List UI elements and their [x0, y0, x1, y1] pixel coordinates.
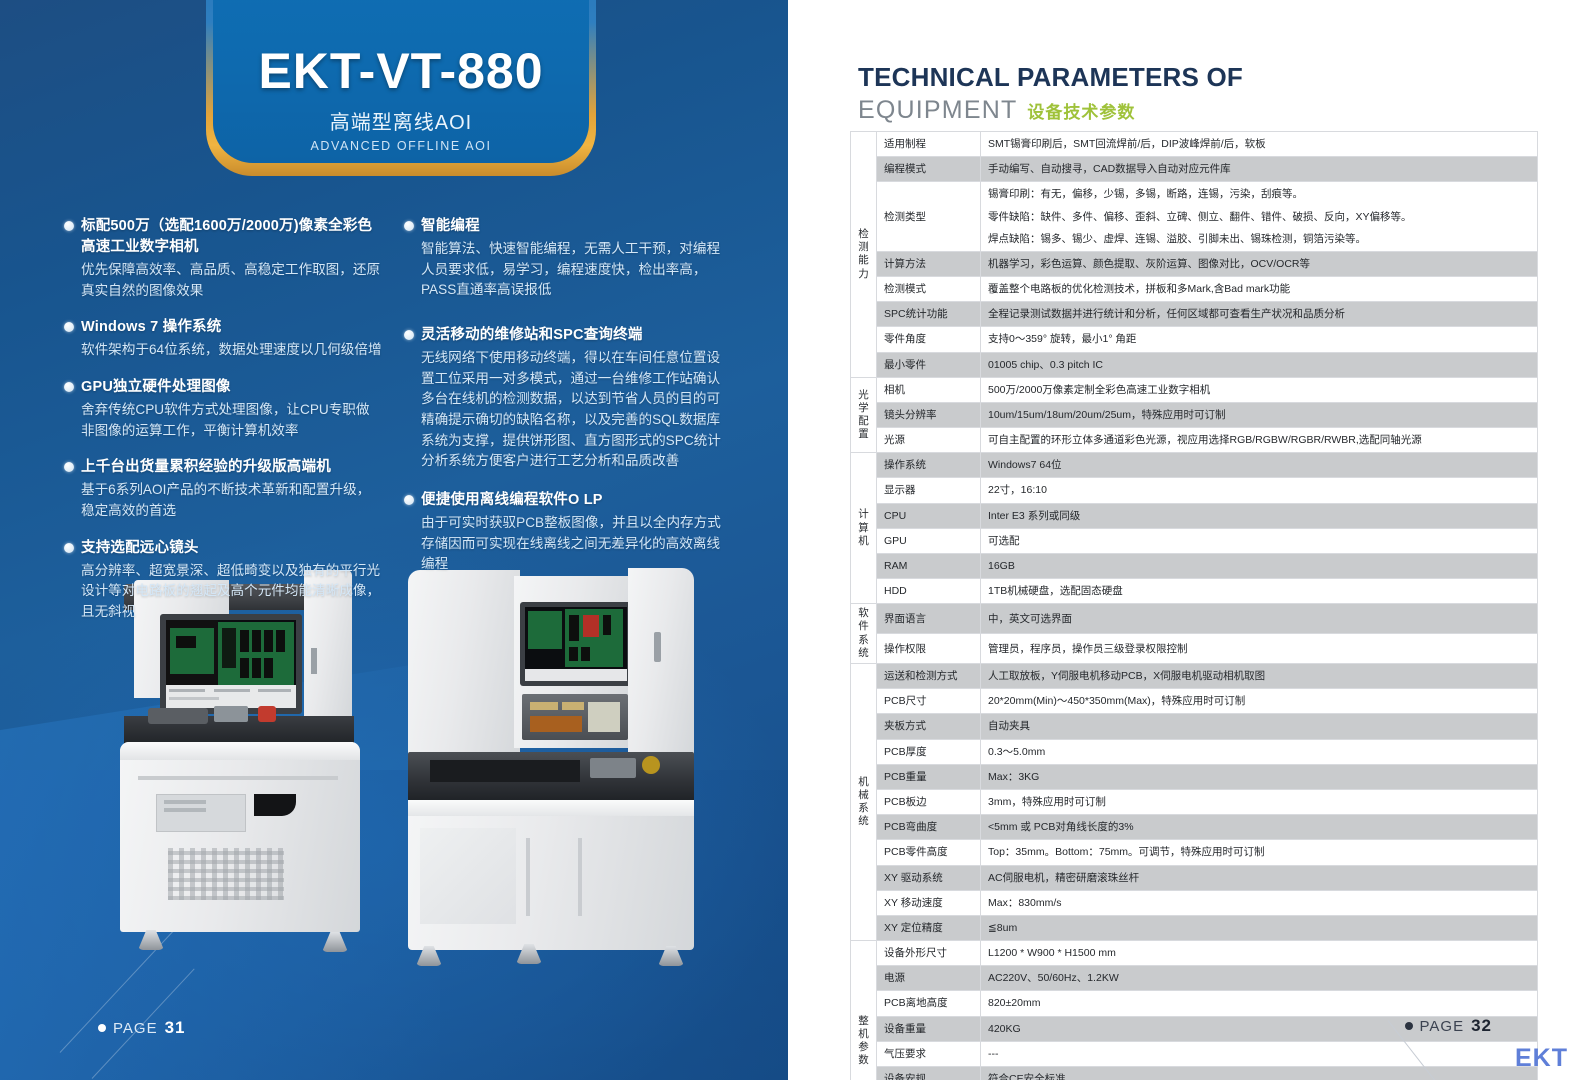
- feature-item: 便捷使用离线编程软件O LP 由于可实时获驭PCB整板图像，并且以全内存方式存储…: [404, 490, 722, 575]
- table-cell-line: 16GB: [988, 557, 1530, 575]
- table-cell-key: HDD: [877, 579, 981, 604]
- page-number-right: PAGE 32: [1405, 1016, 1493, 1036]
- table-row: PCB离地高度820±20mm: [851, 991, 1538, 1016]
- table-cell-value: 10um/15um/18um/20um/25um，特殊应用时可订制: [981, 402, 1538, 427]
- table-cell-line: 500万/2000万像素定制全彩色高速工业数字相机: [988, 381, 1530, 399]
- page-number-left: PAGE 31: [98, 1018, 186, 1038]
- table-cell-key: 界面语言: [877, 604, 981, 634]
- table-cell-line: AC220V、50/60Hz、1.2KW: [988, 969, 1530, 987]
- section-subtitle-row: EQUIPMENT 设备技术参数: [858, 96, 1243, 125]
- table-cell-value: 16GB: [981, 553, 1538, 578]
- table-row: 电源AC220V、50/60Hz、1.2KW: [851, 966, 1538, 991]
- table-row: 编程模式手动编写、自动搜寻，CAD数据导入自动对应元件库: [851, 157, 1538, 182]
- table-cell-line: 覆盖整个电路板的优化检测技术，拼板和多Mark,含Bad mark功能: [988, 280, 1530, 298]
- feature-title: 支持选配远心镜头: [64, 538, 382, 559]
- bullet-icon: [404, 330, 414, 340]
- table-cell-line: <5mm 或 PCB对角线长度的3%: [988, 818, 1530, 836]
- table-row: 检测模式覆盖整个电路板的优化检测技术，拼板和多Mark,含Bad mark功能: [851, 277, 1538, 302]
- table-cell-line: 10um/15um/18um/20um/25um，特殊应用时可订制: [988, 406, 1530, 424]
- table-row: 零件角度支持0～359° 旋转，最小1° 角距: [851, 327, 1538, 352]
- table-cell-key: CPU: [877, 503, 981, 528]
- table-cell-line: 机器学习，彩色运算、颜色提取、灰阶运算、图像对比，OCV/OCR等: [988, 255, 1530, 273]
- table-row: XY 驱动系统AC伺服电机，精密研磨滚珠丝杆: [851, 865, 1538, 890]
- table-cell-value: 符合CE安全标准: [981, 1066, 1538, 1080]
- bullet-icon: [64, 543, 74, 553]
- table-cell-key: 计算方法: [877, 251, 981, 276]
- table-row: SPC统计功能全程记录测试数据并进行统计和分析，任何区域都可查看生产状况和品质分…: [851, 302, 1538, 327]
- feature-title: 标配500万（选配1600万/2000万)像素全彩色高速工业数字相机: [64, 216, 382, 258]
- table-cell-key: PCB厚度: [877, 739, 981, 764]
- table-cell-line: Max：830mm/s: [988, 894, 1530, 912]
- table-cell-key: PCB重量: [877, 764, 981, 789]
- table-cell-line: 820±20mm: [988, 994, 1530, 1012]
- brand-logo: EKT: [1515, 1044, 1568, 1073]
- table-cell-key: PCB离地高度: [877, 991, 981, 1016]
- feature-column-left: 标配500万（选配1600万/2000万)像素全彩色高速工业数字相机 优先保障高…: [64, 216, 382, 639]
- table-row: 检测类型锡膏印刷：有无，偏移，少锡，多锡，断路，连锡，污染，刮痕等。零件缺陷：缺…: [851, 182, 1538, 252]
- page-number-value: 31: [165, 1018, 186, 1038]
- table-row: XY 移动速度Max：830mm/s: [851, 890, 1538, 915]
- feature-title: 便捷使用离线编程软件O LP: [404, 490, 722, 511]
- table-cell-line: 管理员，程序员，操作员三级登录权限控制: [988, 640, 1530, 658]
- table-cell-line: 可选配: [988, 532, 1530, 550]
- table-row: 机械系统运送和检测方式人工取放板，Y伺服电机移动PCB，X伺服电机驱动相机取图: [851, 664, 1538, 689]
- feature-title-text: Windows 7 操作系统: [81, 319, 221, 335]
- table-cell-value: AC伺服电机，精密研磨滚珠丝杆: [981, 865, 1538, 890]
- feature-title: 灵活移动的维修站和SPC查询终端: [404, 325, 722, 346]
- table-row: PCB重量Max：3KG: [851, 764, 1538, 789]
- table-cell-value: Windows7 64位: [981, 453, 1538, 478]
- table-cell-key: 电源: [877, 966, 981, 991]
- table-cell-value: 覆盖整个电路板的优化检测技术，拼板和多Mark,含Bad mark功能: [981, 277, 1538, 302]
- table-cell-value: 可选配: [981, 528, 1538, 553]
- feature-body: 基于6系列AOI产品的不断技术革新和配置升级，稳定高效的首选: [64, 480, 382, 521]
- feature-body: 无线网络下使用移动终端，得以在车间任意位置设置工位采用一对多模式，通过一台维修工…: [404, 348, 722, 472]
- table-cell-key: 操作权限: [877, 634, 981, 664]
- table-row: 计算机操作系统Windows7 64位: [851, 453, 1538, 478]
- table-row: PCB厚度0.3～5.0mm: [851, 739, 1538, 764]
- table-cell-value: 机器学习，彩色运算、颜色提取、灰阶运算、图像对比，OCV/OCR等: [981, 251, 1538, 276]
- table-cell-key: PCB弯曲度: [877, 815, 981, 840]
- bullet-icon: [64, 322, 74, 332]
- table-cell-value: 22寸，16:10: [981, 478, 1538, 503]
- section-title-en-2: EQUIPMENT: [858, 96, 1017, 125]
- left-page: EKT-VT-880 高端型离线AOI ADVANCED OFFLINE AOI…: [0, 0, 788, 1080]
- table-row: 检测能力适用制程SMT锡膏印刷后，SMT回流焊前/后，DIP波峰焊前/后，软板: [851, 132, 1538, 157]
- table-cell-key: XY 驱动系统: [877, 865, 981, 890]
- table-cell-key: SPC统计功能: [877, 302, 981, 327]
- table-row: 操作权限管理员，程序员，操作员三级登录权限控制: [851, 634, 1538, 664]
- table-group-label: 光学配置: [851, 377, 877, 453]
- table-cell-value: 人工取放板，Y伺服电机移动PCB，X伺服电机驱动相机取图: [981, 664, 1538, 689]
- bullet-icon: [64, 382, 74, 392]
- table-cell-value: 可自主配置的环形立体多通道彩色光源，视应用选择RGB/RGBW/RGBR/RWB…: [981, 428, 1538, 453]
- feature-body: 舍弃传统CPU软件方式处理图像，让CPU专职做非图像的运算工作，平衡计算机效率: [64, 400, 382, 441]
- table-row: PCB弯曲度<5mm 或 PCB对角线长度的3%: [851, 815, 1538, 840]
- table-cell-line: 人工取放板，Y伺服电机移动PCB，X伺服电机驱动相机取图: [988, 667, 1530, 685]
- table-cell-value: <5mm 或 PCB对角线长度的3%: [981, 815, 1538, 840]
- table-cell-key: 检测模式: [877, 277, 981, 302]
- table-row: 气压要求---: [851, 1041, 1538, 1066]
- feature-body: 高分辨率、超宽景深、超低畸变以及独有的平行光设计等对电路板的翘起及高个元件均能清…: [64, 561, 382, 623]
- table-cell-value: 中，英文可选界面: [981, 604, 1538, 634]
- feature-title-text: 支持选配远心镜头: [81, 540, 199, 556]
- table-cell-value: 820±20mm: [981, 991, 1538, 1016]
- model-name: EKT-VT-880: [258, 45, 543, 98]
- feature-item: 上千台出货量累积经验的升级版高端机 基于6系列AOI产品的不断技术革新和配置升级…: [64, 457, 382, 521]
- table-cell-key: 适用制程: [877, 132, 981, 157]
- feature-body: 优先保障高效率、高品质、高稳定工作取图，还原真实自然的图像效果: [64, 260, 382, 301]
- feature-title-text: 智能编程: [421, 218, 480, 234]
- table-row: PCB零件高度Top：35mm。Bottom：75mm。可调节，特殊应用时可订制: [851, 840, 1538, 865]
- table-cell-line: 22寸，16:10: [988, 481, 1530, 499]
- table-cell-line: 3mm，特殊应用时可订制: [988, 793, 1530, 811]
- table-cell-value: AC220V、50/60Hz、1.2KW: [981, 966, 1538, 991]
- table-cell-line: 焊点缺陷：锡多、锡少、虚焊、连锡、溢胶、引脚未出、锡珠检测，铜箔污染等。: [988, 230, 1530, 248]
- model-subtitle-cn: 高端型离线AOI: [330, 106, 472, 135]
- feature-body: 智能算法、快速智能编程，无需人工干预，对编程人员要求低，易学习，编程速度快，检出…: [404, 239, 722, 301]
- table-row: HDD1TB机械硬盘，选配固态硬盘: [851, 579, 1538, 604]
- table-row: 计算方法机器学习，彩色运算、颜色提取、灰阶运算、图像对比，OCV/OCR等: [851, 251, 1538, 276]
- table-cell-key: 设备外形尺寸: [877, 941, 981, 966]
- table-cell-line: L1200 * W900 * H1500 mm: [988, 944, 1530, 962]
- table-cell-key: PCB板边: [877, 790, 981, 815]
- table-group-label: 机械系统: [851, 664, 877, 941]
- table-cell-key: 光源: [877, 428, 981, 453]
- table-cell-value: 自动夹具: [981, 714, 1538, 739]
- table-cell-value: 500万/2000万像素定制全彩色高速工业数字相机: [981, 377, 1538, 402]
- table-cell-key: 相机: [877, 377, 981, 402]
- table-row: 整机参数设备外形尺寸L1200 * W900 * H1500 mm: [851, 941, 1538, 966]
- table-cell-line: 1TB机械硬盘，选配固态硬盘: [988, 582, 1530, 600]
- table-cell-line: 符合CE安全标准: [988, 1070, 1530, 1080]
- page-label: PAGE: [113, 1020, 158, 1037]
- table-cell-value: ≦8um: [981, 915, 1538, 940]
- title-plaque: EKT-VT-880 高端型离线AOI ADVANCED OFFLINE AOI: [213, 0, 589, 163]
- table-cell-value: Max：3KG: [981, 764, 1538, 789]
- feature-list: 标配500万（选配1600万/2000万)像素全彩色高速工业数字相机 优先保障高…: [64, 216, 724, 639]
- table-cell-key: 最小零件: [877, 352, 981, 377]
- table-cell-key: 操作系统: [877, 453, 981, 478]
- table-cell-value: 全程记录测试数据并进行统计和分析，任何区域都可查看生产状况和品质分析: [981, 302, 1538, 327]
- page-number-value: 32: [1471, 1016, 1492, 1036]
- table-cell-line: 20*20mm(Min)～450*350mm(Max)，特殊应用时可订制: [988, 692, 1530, 710]
- table-cell-line: ---: [988, 1045, 1530, 1063]
- table-cell-line: SMT锡膏印刷后，SMT回流焊前/后，DIP波峰焊前/后，软板: [988, 135, 1530, 153]
- feature-title-text: GPU独立硬件处理图像: [81, 379, 231, 395]
- table-cell-key: 设备重量: [877, 1016, 981, 1041]
- table-cell-value: 锡膏印刷：有无，偏移，少锡，多锡，断路，连锡，污染，刮痕等。零件缺陷：缺件、多件…: [981, 182, 1538, 252]
- table-row: 镜头分辨率10um/15um/18um/20um/25um，特殊应用时可订制: [851, 402, 1538, 427]
- page-label: PAGE: [1420, 1018, 1465, 1035]
- feature-title-text: 上千台出货量累积经验的升级版高端机: [81, 459, 331, 475]
- page-dot-icon: [98, 1024, 106, 1032]
- table-group-label: 检测能力: [851, 132, 877, 378]
- table-cell-key: XY 定位精度: [877, 915, 981, 940]
- feature-item: 支持选配远心镜头 高分辨率、超宽景深、超低畸变以及独有的平行光设计等对电路板的翘…: [64, 538, 382, 623]
- table-cell-value: 0.3～5.0mm: [981, 739, 1538, 764]
- feature-body: 软件架构于64位系统，数据处理速度以几何级倍增: [64, 340, 382, 361]
- table-row: 光学配置相机500万/2000万像素定制全彩色高速工业数字相机: [851, 377, 1538, 402]
- bullet-icon: [404, 495, 414, 505]
- table-group-label: 计算机: [851, 453, 877, 604]
- feature-body: 由于可实时获驭PCB整板图像，并且以全内存方式存储因而可实现在线离线之间无差异化…: [404, 513, 722, 575]
- bullet-icon: [404, 221, 414, 231]
- table-cell-value: Max：830mm/s: [981, 890, 1538, 915]
- table-row: PCB尺寸20*20mm(Min)～450*350mm(Max)，特殊应用时可订…: [851, 689, 1538, 714]
- feature-title-text: 灵活移动的维修站和SPC查询终端: [421, 327, 643, 343]
- table-cell-line: 自动夹具: [988, 717, 1530, 735]
- table-cell-line: 可自主配置的环形立体多通道彩色光源，视应用选择RGB/RGBW/RGBR/RWB…: [988, 431, 1530, 449]
- table-cell-line: 支持0～359° 旋转，最小1° 角距: [988, 330, 1530, 348]
- table-group-label: 软件系统: [851, 604, 877, 664]
- table-cell-key: PCB尺寸: [877, 689, 981, 714]
- feature-title: Windows 7 操作系统: [64, 317, 382, 338]
- table-cell-value: Top：35mm。Bottom：75mm。可调节，特殊应用时可订制: [981, 840, 1538, 865]
- feature-title-text: 标配500万（选配1600万/2000万)像素全彩色高速工业数字相机: [81, 218, 372, 255]
- table-cell-value: 3mm，特殊应用时可订制: [981, 790, 1538, 815]
- feature-column-right: 智能编程 智能算法、快速智能编程，无需人工干预，对编程人员要求低，易学习，编程速…: [404, 216, 722, 639]
- table-cell-line: 中，英文可选界面: [988, 610, 1530, 628]
- table-row: RAM16GB: [851, 553, 1538, 578]
- table-row: GPU可选配: [851, 528, 1538, 553]
- table-row: CPUInter E3 系列或同级: [851, 503, 1538, 528]
- table-cell-line: ≦8um: [988, 919, 1530, 937]
- table-cell-value: 1TB机械硬盘，选配固态硬盘: [981, 579, 1538, 604]
- feature-item: Windows 7 操作系统 软件架构于64位系统，数据处理速度以几何级倍增: [64, 317, 382, 361]
- table-cell-key: 气压要求: [877, 1041, 981, 1066]
- table-cell-value: Inter E3 系列或同级: [981, 503, 1538, 528]
- bullet-icon: [64, 462, 74, 472]
- feature-item: 标配500万（选配1600万/2000万)像素全彩色高速工业数字相机 优先保障高…: [64, 216, 382, 301]
- table-cell-key: 检测类型: [877, 182, 981, 252]
- feature-title-text: 便捷使用离线编程软件O LP: [421, 492, 603, 508]
- table-row: 软件系统界面语言中，英文可选界面: [851, 604, 1538, 634]
- specification-table: 检测能力适用制程SMT锡膏印刷后，SMT回流焊前/后，DIP波峰焊前/后，软板编…: [850, 131, 1538, 1080]
- table-cell-value: SMT锡膏印刷后，SMT回流焊前/后，DIP波峰焊前/后，软板: [981, 132, 1538, 157]
- bullet-icon: [64, 221, 74, 231]
- table-cell-value: 01005 chip、0.3 pitch IC: [981, 352, 1538, 377]
- table-cell-line: Inter E3 系列或同级: [988, 507, 1530, 525]
- table-cell-value: L1200 * W900 * H1500 mm: [981, 941, 1538, 966]
- table-cell-line: 手动编写、自动搜寻，CAD数据导入自动对应元件库: [988, 160, 1530, 178]
- table-cell-line: 0.3～5.0mm: [988, 743, 1530, 761]
- table-cell-key: 设备安规: [877, 1066, 981, 1080]
- feature-title: GPU独立硬件处理图像: [64, 377, 382, 398]
- section-title-cn: 设备技术参数: [1027, 98, 1135, 123]
- table-row: XY 定位精度≦8um: [851, 915, 1538, 940]
- table-cell-value: 手动编写、自动搜寻，CAD数据导入自动对应元件库: [981, 157, 1538, 182]
- table-cell-value: 支持0～359° 旋转，最小1° 角距: [981, 327, 1538, 352]
- table-cell-line: 01005 chip、0.3 pitch IC: [988, 356, 1530, 374]
- table-row: 最小零件01005 chip、0.3 pitch IC: [851, 352, 1538, 377]
- table-cell-key: GPU: [877, 528, 981, 553]
- section-title-en: TECHNICAL PARAMETERS OF: [858, 62, 1243, 93]
- table-cell-key: RAM: [877, 553, 981, 578]
- right-page: TECHNICAL PARAMETERS OF EQUIPMENT 设备技术参数…: [788, 0, 1590, 1080]
- table-cell-key: 运送和检测方式: [877, 664, 981, 689]
- table-cell-line: 全程记录测试数据并进行统计和分析，任何区域都可查看生产状况和品质分析: [988, 305, 1530, 323]
- table-cell-key: 显示器: [877, 478, 981, 503]
- feature-title: 上千台出货量累积经验的升级版高端机: [64, 457, 382, 478]
- table-cell-key: PCB零件高度: [877, 840, 981, 865]
- section-header: TECHNICAL PARAMETERS OF EQUIPMENT 设备技术参数: [858, 62, 1243, 125]
- table-cell-line: Top：35mm。Bottom：75mm。可调节，特殊应用时可订制: [988, 843, 1530, 861]
- table-row: 设备安规符合CE安全标准: [851, 1066, 1538, 1080]
- page-dot-icon: [1405, 1022, 1413, 1030]
- table-row: 显示器22寸，16:10: [851, 478, 1538, 503]
- table-cell-key: 夹板方式: [877, 714, 981, 739]
- model-subtitle-en: ADVANCED OFFLINE AOI: [310, 139, 491, 153]
- table-cell-line: 零件缺陷：缺件、多件、偏移、歪斜、立碑、侧立、翻件、错件、破损、反向，XY偏移等…: [988, 208, 1530, 226]
- feature-item: 灵活移动的维修站和SPC查询终端 无线网络下使用移动终端，得以在车间任意位置设置…: [404, 325, 722, 472]
- table-row: 光源可自主配置的环形立体多通道彩色光源，视应用选择RGB/RGBW/RGBR/R…: [851, 428, 1538, 453]
- table-cell-key: 镜头分辨率: [877, 402, 981, 427]
- table-row: PCB板边3mm，特殊应用时可订制: [851, 790, 1538, 815]
- feature-item: 智能编程 智能算法、快速智能编程，无需人工干预，对编程人员要求低，易学习，编程速…: [404, 216, 722, 301]
- feature-item: GPU独立硬件处理图像 舍弃传统CPU软件方式处理图像，让CPU专职做非图像的运…: [64, 377, 382, 441]
- table-cell-value: 管理员，程序员，操作员三级登录权限控制: [981, 634, 1538, 664]
- table-cell-line: Windows7 64位: [988, 456, 1530, 474]
- table-group-label: 整机参数: [851, 941, 877, 1080]
- table-cell-value: ---: [981, 1041, 1538, 1066]
- table-cell-key: XY 移动速度: [877, 890, 981, 915]
- feature-title: 智能编程: [404, 216, 722, 237]
- table-cell-key: 零件角度: [877, 327, 981, 352]
- table-cell-line: Max：3KG: [988, 768, 1530, 786]
- specification-table-body: 检测能力适用制程SMT锡膏印刷后，SMT回流焊前/后，DIP波峰焊前/后，软板编…: [851, 132, 1538, 1080]
- table-row: 夹板方式自动夹具: [851, 714, 1538, 739]
- table-cell-line: 锡膏印刷：有无，偏移，少锡，多锡，断路，连锡，污染，刮痕等。: [988, 185, 1530, 203]
- table-cell-value: 20*20mm(Min)～450*350mm(Max)，特殊应用时可订制: [981, 689, 1538, 714]
- table-cell-line: AC伺服电机，精密研磨滚珠丝杆: [988, 869, 1530, 887]
- table-cell-key: 编程模式: [877, 157, 981, 182]
